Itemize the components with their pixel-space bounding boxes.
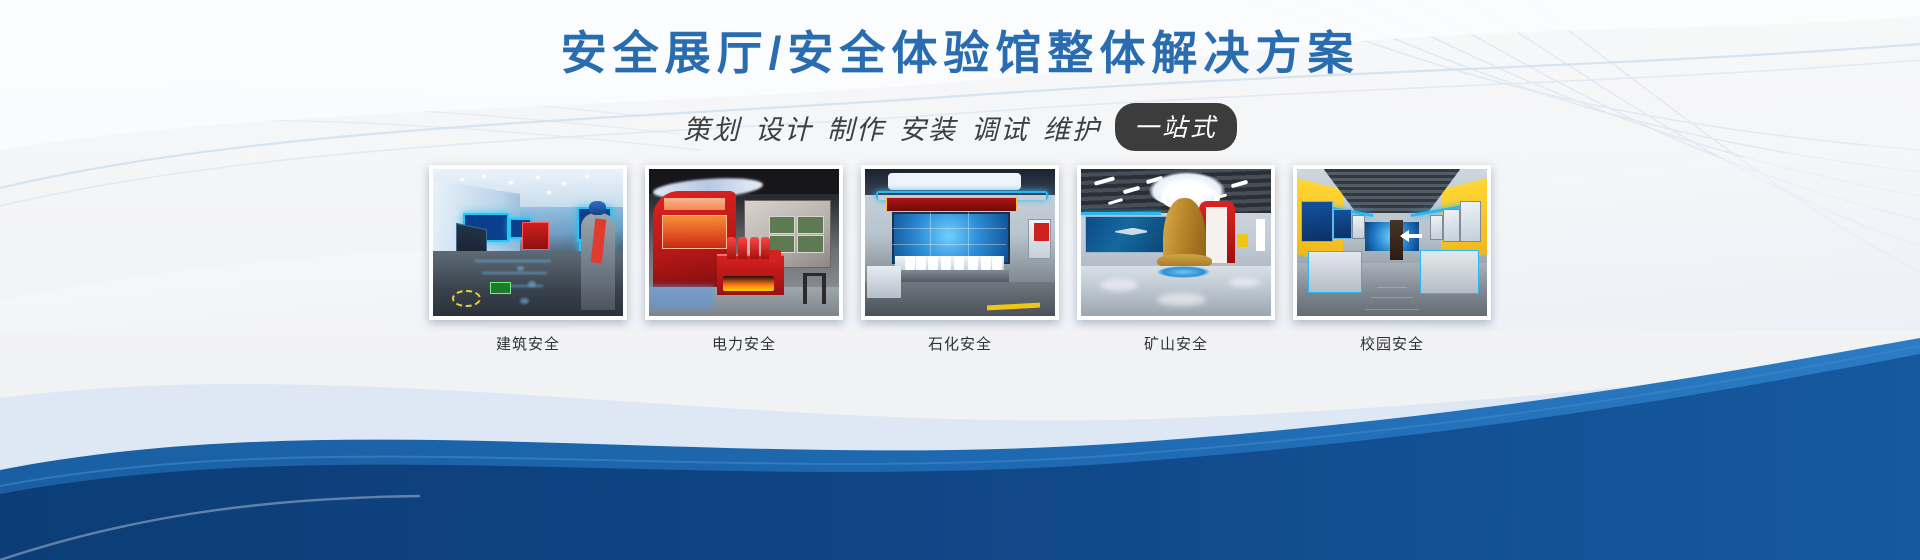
service-steps: 策划设计制作安装调试维护	[683, 108, 1101, 147]
service-step-3: 制作	[827, 115, 885, 145]
thumbnail-campus-safety[interactable]	[1293, 165, 1491, 320]
thumbnail-petrochemical-safety[interactable]	[861, 165, 1059, 320]
scene-red-fire-equipment-exhibit	[649, 169, 839, 316]
exhibition-gallery: 建筑安全	[0, 165, 1920, 354]
page-title: 安全展厅/安全体验馆整体解决方案	[0, 28, 1920, 79]
caption-campus-safety: 校园安全	[1360, 333, 1424, 354]
caption-electrical-safety: 电力安全	[712, 333, 776, 354]
service-step-4: 安装	[899, 115, 957, 145]
subtitle-row: 策划设计制作安装调试维护 一站式	[0, 103, 1920, 151]
caption-petrochemical-safety: 石化安全	[928, 333, 992, 354]
service-step-2: 设计	[755, 115, 813, 145]
gallery-item-petrochemical-safety[interactable]: 石化安全	[861, 165, 1059, 354]
scene-golden-bell-atrium-hall	[1081, 169, 1271, 316]
scene-petrochemical-video-wall-hall	[865, 169, 1055, 316]
scene-yellow-campus-corridor-hall	[1297, 169, 1487, 316]
service-step-5: 调试	[971, 115, 1029, 145]
thumbnail-mining-safety[interactable]	[1077, 165, 1275, 320]
gallery-item-building-safety[interactable]: 建筑安全	[429, 165, 627, 354]
one-stop-badge: 一站式	[1115, 103, 1237, 151]
thumbnail-electrical-safety[interactable]	[645, 165, 843, 320]
thumbnail-building-safety[interactable]	[429, 165, 627, 320]
caption-mining-safety: 矿山安全	[1144, 333, 1208, 354]
scene-blue-corridor-exhibition-hall	[433, 169, 623, 316]
gallery-item-electrical-safety[interactable]: 电力安全	[645, 165, 843, 354]
gallery-item-campus-safety[interactable]: 校园安全	[1293, 165, 1491, 354]
service-step-6: 维护	[1043, 115, 1101, 145]
safety-exhibition-banner: 安全展厅/安全体验馆整体解决方案 策划设计制作安装调试维护 一站式	[0, 0, 1920, 560]
gallery-item-mining-safety[interactable]: 矿山安全	[1077, 165, 1275, 354]
service-step-1: 策划	[683, 115, 741, 145]
caption-building-safety: 建筑安全	[496, 333, 560, 354]
